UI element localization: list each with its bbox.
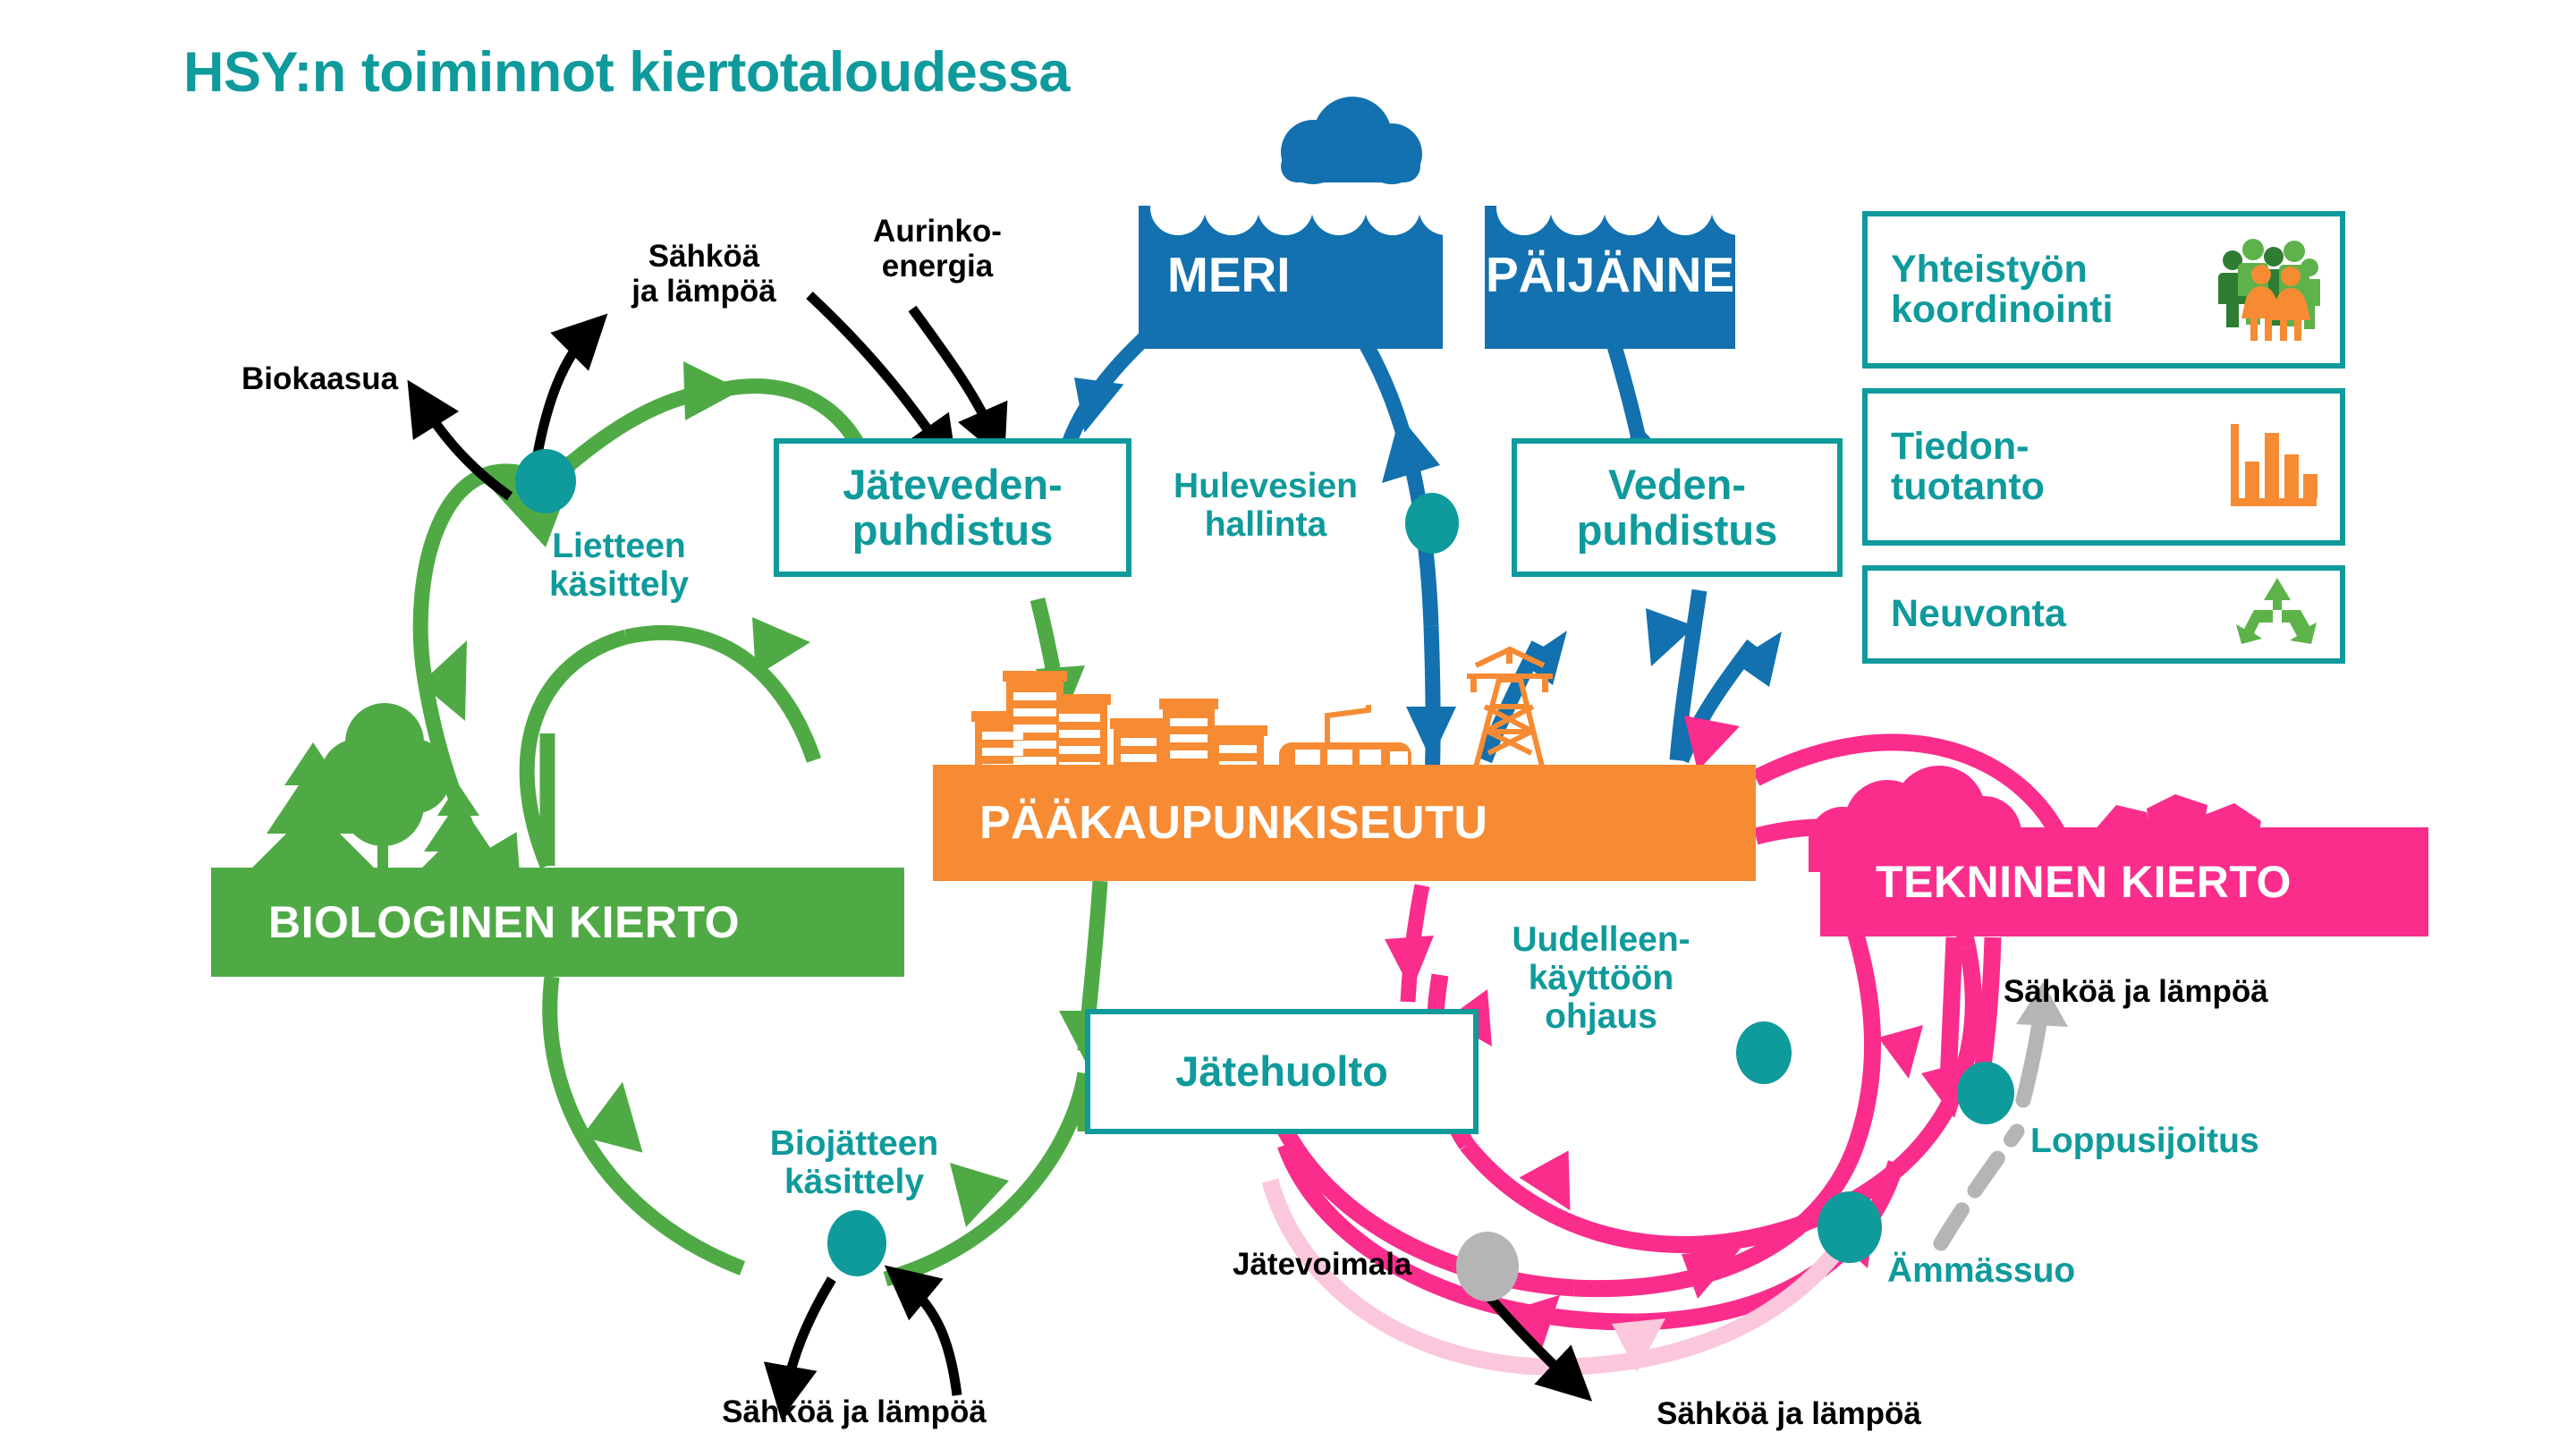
label-uudelleenkayttoon-ohjaus: Uudelleen- käyttöön ohjaus xyxy=(1512,921,1690,1037)
water-label-meri: MERI xyxy=(1167,246,1291,303)
process-box-label: Veden- puhdistus xyxy=(1577,462,1778,554)
legend-item-label: Yhteistyön koordinointi xyxy=(1891,250,2113,330)
label-lietteen-kasittely: Lietteen käsittely xyxy=(549,528,689,605)
banner-bioloGinen-kierto: BIOLOGINEN KIERTO xyxy=(211,868,904,977)
banner-tekninen-kierto: TEKNINEN KIERTO xyxy=(1820,827,2428,936)
label-hulevesien-hallinta: Hulevesien hallinta xyxy=(1174,468,1358,545)
water-label-paijanne: PÄIJÄNNE xyxy=(1422,246,1798,303)
node-dot-biojatteen xyxy=(827,1210,886,1276)
legend-item-yhteistyon-koordinointi[interactable]: Yhteistyön koordinointi xyxy=(1862,211,2345,369)
bar-chart-icon xyxy=(2227,419,2320,516)
legend-item-neuvonta[interactable]: Neuvonta xyxy=(1862,565,2345,664)
node-dot-uudelleen xyxy=(1736,1021,1792,1084)
label-loppusijoitus: Loppusijoitus xyxy=(2030,1123,2259,1161)
trees-icon xyxy=(252,703,504,889)
legend-item-tiedontuotanto[interactable]: Tiedon- tuotanto xyxy=(1862,388,2345,546)
banner-paakaupunkiseutu: PÄÄKAUPUNKISEUTU xyxy=(933,765,1756,881)
node-dot-ammassuo xyxy=(1818,1191,1882,1263)
label-jatevoimala: Jätevoimala xyxy=(1233,1248,1411,1283)
infographic-canvas: HSY:n toiminnot kiertotaloudessa xyxy=(0,0,2576,1449)
process-box-jateveden-puhdistus[interactable]: Jäteveden- puhdistus xyxy=(774,438,1131,577)
label-ammassuo: Ämmässuo xyxy=(1887,1252,2075,1291)
banner-label: TEKNINEN KIERTO xyxy=(1876,856,2292,908)
label-sahkoa-ja-lampoa-liete: Sähköä ja lämpöä xyxy=(631,240,775,309)
node-dot-jatevoimala xyxy=(1456,1232,1519,1301)
label-biojatteen-kasittely: Biojätteen käsittely xyxy=(770,1125,939,1202)
people-group-icon xyxy=(2215,235,2320,345)
label-biokaasua: Biokaasua xyxy=(241,362,398,397)
label-aurinkoenergia: Aurinko- energia xyxy=(873,215,1002,284)
pink-city-waste-head xyxy=(1385,936,1434,991)
process-box-label: Jäteveden- puhdistus xyxy=(843,462,1063,554)
legend-panel: Yhteistyön koordinointi xyxy=(1862,211,2345,683)
process-box-label: Jätehuolto xyxy=(1175,1049,1388,1095)
legend-item-label: Tiedon- tuotanto xyxy=(1891,427,2045,507)
process-box-veden-puhdistus[interactable]: Veden- puhdistus xyxy=(1512,438,1843,577)
legend-item-label: Neuvonta xyxy=(1891,594,2066,634)
recycle-icon xyxy=(2234,574,2320,656)
label-sahkoa-ja-lampoa-jatevoimala: Sähköä ja lämpöä xyxy=(1657,1397,1921,1432)
process-box-jatehuolto[interactable]: Jätehuolto xyxy=(1085,1009,1479,1134)
node-dot-hulevesien xyxy=(1405,493,1459,554)
label-sahkoa-ja-lampoa-tekninen: Sähköä ja lämpöä xyxy=(2004,975,2268,1010)
node-dot-lietteen xyxy=(515,449,576,513)
label-sahkoa-ja-lampoa-bio: Sähköä ja lämpöä xyxy=(722,1395,987,1430)
node-dot-loppusijoitus xyxy=(1957,1062,2014,1124)
banner-label: PÄÄKAUPUNKISEUTU xyxy=(979,796,1487,850)
banner-label: BIOLOGINEN KIERTO xyxy=(268,896,740,948)
